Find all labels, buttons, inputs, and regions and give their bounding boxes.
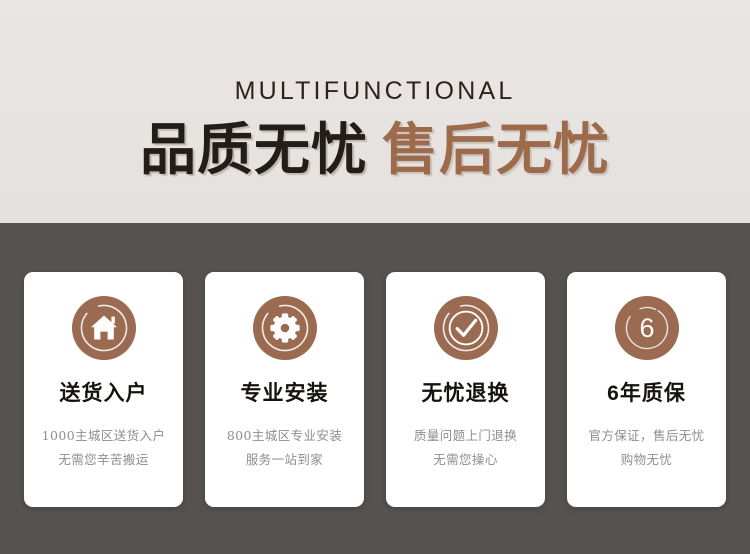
feature-card-returns[interactable]: 无忧退换 质量问题上门退换 无需您操心 <box>386 272 545 507</box>
header-band: MULTIFUNCTIONAL 品质无忧售后无忧 <box>0 0 750 223</box>
promo-banner: MULTIFUNCTIONAL 品质无忧售后无忧 送货入户 1000主城区送货入… <box>0 0 750 554</box>
headline-primary: 品质无忧 <box>140 118 368 181</box>
feature-card-delivery[interactable]: 送货入户 1000主城区送货入户 无需您辛苦搬运 <box>24 272 183 507</box>
feature-card-description: 800主城区专业安装 服务一站到家 <box>227 424 342 473</box>
page-title: 品质无忧售后无忧 <box>0 122 750 178</box>
feature-card-desc-line-2: 服务一站到家 <box>227 448 342 472</box>
feature-card-description: 官方保证，售后无忧 购物无忧 <box>588 424 704 473</box>
gear-icon <box>253 296 317 360</box>
feature-card-title: 6年质保 <box>607 383 686 404</box>
feature-card-desc-line-2: 无需您辛苦搬运 <box>42 448 166 472</box>
feature-card-desc-line-1: 质量问题上门退换 <box>414 424 517 448</box>
feature-card-desc-line-1: 1000主城区送货入户 <box>42 424 166 448</box>
feature-card-title: 送货入户 <box>60 383 148 404</box>
feature-panel: 送货入户 1000主城区送货入户 无需您辛苦搬运 <box>0 223 750 554</box>
home-icon <box>72 296 136 360</box>
feature-card-title: 无忧退换 <box>422 383 510 404</box>
badge-number-text: 6 <box>639 313 654 343</box>
check-circle-icon <box>434 296 498 360</box>
feature-card-description: 1000主城区送货入户 无需您辛苦搬运 <box>42 424 166 473</box>
feature-card-desc-line-2: 无需您操心 <box>414 448 517 472</box>
feature-card-title: 专业安装 <box>241 383 329 404</box>
feature-card-description: 质量问题上门退换 无需您操心 <box>414 424 517 473</box>
feature-card-list: 送货入户 1000主城区送货入户 无需您辛苦搬运 <box>24 272 726 507</box>
feature-card-installation[interactable]: 专业安装 800主城区专业安装 服务一站到家 <box>205 272 364 507</box>
feature-card-desc-line-1: 官方保证，售后无忧 <box>588 424 704 448</box>
feature-card-desc-line-2: 购物无忧 <box>588 448 704 472</box>
headline-secondary: 售后无忧 <box>382 118 610 181</box>
feature-card-warranty[interactable]: 6 6年质保 官方保证，售后无忧 购物无忧 <box>567 272 726 507</box>
six-year-badge-icon: 6 <box>615 296 679 360</box>
header-eyebrow: MULTIFUNCTIONAL <box>0 79 750 104</box>
feature-card-desc-line-1: 800主城区专业安装 <box>227 424 342 448</box>
